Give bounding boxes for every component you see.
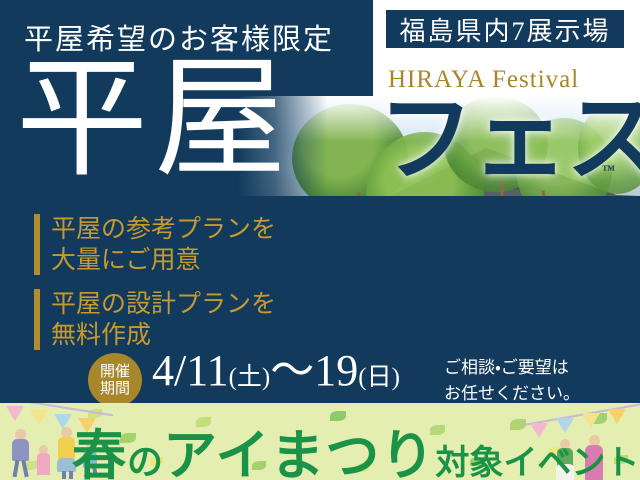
date-start-weekday: (土) — [229, 364, 271, 391]
period-badge-line-2: 期間 — [100, 380, 130, 397]
period-badge: 開催 期間 — [88, 353, 142, 403]
figure-leg — [21, 460, 28, 477]
feature-line-1: 平屋の参考プランを — [51, 214, 276, 245]
consultation-note-line-1: ご相談・ご要望は — [444, 355, 580, 381]
figure-leg — [62, 471, 66, 479]
feature-text: 平屋の設計プランを 無料作成 — [51, 289, 276, 350]
campaign-title-part-4: 対象イベント — [435, 444, 639, 480]
bunting-flag — [30, 410, 48, 425]
main-content-area: 平屋希望のお客様限定 平屋 福島県内7展示場 HIRAYA Festival フ… — [0, 0, 640, 403]
bunting-flag — [6, 406, 24, 421]
date-start: 4/11 — [152, 346, 229, 395]
venue-count-label: 福島県内7展示場 — [399, 11, 610, 48]
venue-count-badge: 福島県内7展示場 — [384, 8, 626, 50]
date-tilde: 〜 — [270, 346, 314, 395]
feature-line-1: 平屋の設計プランを — [51, 289, 276, 320]
consultation-note-line-2: お任せください。 — [444, 381, 580, 404]
trademark-icon: ™ — [602, 162, 615, 178]
consultation-note: ご相談・ご要望は お任せください。 — [444, 355, 580, 403]
campaign-title-part-3: アイまつり — [163, 426, 435, 480]
campaign-title-part-1: 春 — [72, 426, 127, 480]
figure-father — [10, 429, 32, 477]
bullet-bar-icon — [34, 214, 40, 275]
date-end: 19 — [314, 346, 358, 395]
feature-line-2: 大量にご用意 — [51, 245, 276, 276]
feature-list: 平屋の参考プランを 大量にご用意 平屋の設計プランを 無料作成 — [34, 214, 276, 364]
figure-girl — [36, 445, 52, 477]
list-item: 平屋の参考プランを 大量にご用意 — [34, 214, 276, 275]
campaign-title: 春のアイまつり対象イベント — [72, 411, 639, 480]
figure-body — [12, 439, 29, 461]
page-title: 平屋 — [16, 54, 292, 186]
campaign-title-part-2: の — [127, 441, 163, 480]
advertisement-banner: 平屋希望のお客様限定 平屋 福島県内7展示場 HIRAYA Festival フ… — [0, 0, 640, 480]
date-end-weekday: (日) — [358, 364, 400, 391]
campaign-banner: 春のアイまつり対象イベント — [0, 403, 640, 480]
list-item: 平屋の設計プランを 無料作成 — [34, 289, 276, 350]
event-date-range: 4/11(土)〜19(日) — [152, 349, 400, 393]
period-badge-line-1: 開催 — [100, 363, 130, 380]
figure-leg — [13, 460, 20, 477]
feature-text: 平屋の参考プランを 大量にご用意 — [51, 214, 276, 275]
bullet-bar-icon — [34, 289, 40, 350]
figure-body — [37, 453, 50, 475]
fesu-logo-text: フェス — [378, 92, 640, 188]
